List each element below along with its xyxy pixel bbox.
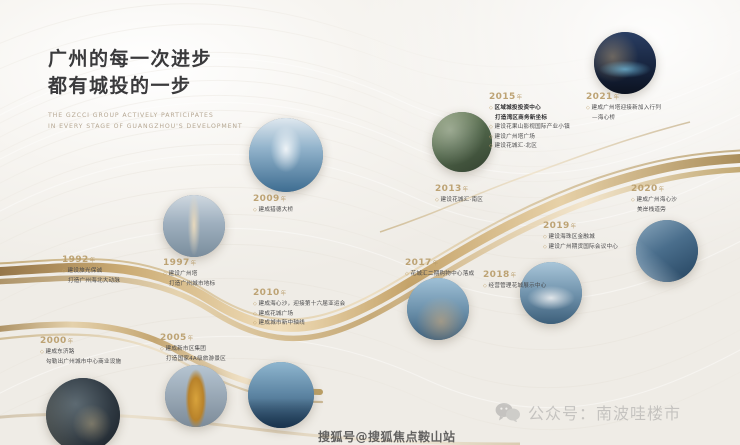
milestone-item: —海心桥 (586, 114, 661, 124)
milestone-label-2015: 2015年 ◇区域城投投资中心 打造湾区商务新坐标 ◇建设花果山影视国际产业小镇… (489, 92, 570, 152)
milestone-label-2013: 2013年 ◇建设花城汇·南区 (435, 184, 483, 206)
milestone-item: ◇建成海心沙，迎接第十六届亚运会 (253, 300, 345, 310)
milestone-year-1992: 1992年 (62, 255, 120, 267)
milestone-item: 打造广州海北大动脉 (62, 277, 120, 287)
milestone-item: 美岸栈道旁 (631, 206, 677, 216)
milestone-label-2021: 2021年 ◇建成广州塔迎接新加入行列 —海心桥 (586, 92, 661, 123)
photo-node-2005-tower[interactable] (165, 365, 227, 427)
milestone-item: ◇建成新市区集团 (160, 345, 226, 355)
milestone-year-2000: 2000年 (40, 336, 121, 348)
sohu-watermark: 搜狐号@搜狐焦点鞍山站 (318, 428, 456, 445)
milestone-item: ◇建设花果山影视国际产业小镇 (489, 123, 570, 133)
milestone-item: ◇建设广州塔广场 (489, 133, 570, 143)
milestone-year-2019: 2019年 (543, 221, 618, 233)
milestone-item: ◇建成广州塔迎接新加入行列 (586, 104, 661, 114)
milestone-item: ◇建设海珠区金融城 (543, 233, 618, 243)
milestone-item: ◇建成城市新中轴线 (253, 319, 345, 329)
milestone-item: ◇花城汇二期购物中心落成 (405, 270, 474, 280)
milestone-year-2013: 2013年 (435, 184, 483, 196)
milestone-item: ◇区域城投投资中心 (489, 104, 570, 114)
milestone-label-1992: 1992年 ◇建设旅光保诚 打造广州海北大动脉 (62, 255, 120, 286)
milestone-item: 勾勒出广州城市中心商业设施 (40, 358, 121, 368)
milestone-year-2005: 2005年 (160, 333, 226, 345)
photo-node-2009-liede-bridge[interactable] (249, 118, 323, 192)
milestone-item: ◇建成广州海心沙 (631, 196, 677, 206)
milestone-label-2019: 2019年 ◇建设海珠区金融城 ◇建设广州期货国际会议中心 (543, 221, 618, 252)
milestone-item: 打造广州城市地标 (163, 280, 215, 290)
milestone-label-2010: 2010年 ◇建成海心沙，迎接第十六届亚运会 ◇建成花城广场 ◇建成城市新中轴线 (253, 288, 345, 329)
wechat-watermark: 公众号：南波哇楼市 (495, 400, 681, 424)
headline-sub-2: IN EVERY STAGE OF GUANGZHOU'S DEVELOPMEN… (48, 121, 243, 132)
milestone-year-2010: 2010年 (253, 288, 345, 300)
milestone-year-2015: 2015年 (489, 92, 570, 104)
milestone-item: ◇建成花城广场 (253, 310, 345, 320)
infographic-canvas: 广州的每一次进步 都有城投的一步 THE GZCCI GROUP ACTIVEL… (0, 0, 740, 445)
milestone-item: 打造湾区商务新坐标 (489, 114, 570, 124)
headline-block: 广州的每一次进步 都有城投的一步 THE GZCCI GROUP ACTIVEL… (48, 46, 243, 132)
milestone-item: ◇建设花城汇·南区 (435, 196, 483, 206)
headline-line-1: 广州的每一次进步 (48, 46, 243, 73)
milestone-year-2021: 2021年 (586, 92, 661, 104)
photo-node-2021-haixin-bridge[interactable] (594, 32, 656, 94)
milestone-label-2020: 2020年 ◇建成广州海心沙 美岸栈道旁 (631, 184, 677, 215)
milestone-item: ◇建设花城汇·北区 (489, 142, 570, 152)
milestone-item: ◇建设广州期货国际会议中心 (543, 243, 618, 253)
wechat-watermark-text: 公众号：南波哇楼市 (528, 400, 681, 424)
milestone-year-2020: 2020年 (631, 184, 677, 196)
milestone-label-1997: 1997年 ◇建设广州塔 打造广州城市地标 (163, 258, 215, 289)
photo-node-2015-aerial[interactable] (432, 112, 492, 172)
milestone-year-1997: 1997年 (163, 258, 215, 270)
milestone-label-2005: 2005年 ◇建成新市区集团 打造国家4A级旅游景区 (160, 333, 226, 364)
milestone-item: ◇建设旅光保诚 (62, 267, 120, 277)
wechat-icon (495, 402, 521, 422)
headline-sub-1: THE GZCCI GROUP ACTIVELY PARTICIPATES (48, 110, 243, 121)
milestone-label-2000: 2000年 ◇建成东济路 勾勒出广州城市中心商业设施 (40, 336, 121, 367)
photo-node-2013-flower-city[interactable] (407, 278, 469, 340)
milestone-item: ◇建成猎德大桥 (253, 206, 293, 216)
milestone-label-2018: 2018年 ◇经营管理花城展示中心 (483, 270, 547, 292)
milestone-item: ◇建设广州塔 (163, 270, 215, 280)
milestone-year-2018: 2018年 (483, 270, 547, 282)
milestone-label-2009: 2009年 ◇建成猎德大桥 (253, 194, 293, 216)
milestone-label-2017: 2017年 ◇花城汇二期购物中心落成 (405, 258, 474, 280)
milestone-item: ◇建成东济路 (40, 348, 121, 358)
photo-node-2010-skyline[interactable] (248, 362, 314, 428)
headline-line-2: 都有城投的一步 (48, 73, 243, 100)
photo-node-1992[interactable] (46, 378, 120, 445)
milestone-year-2009: 2009年 (253, 194, 293, 206)
photo-node-1997-canton-tower[interactable] (163, 195, 225, 257)
photo-node-2020-river[interactable] (636, 220, 698, 282)
milestone-year-2017: 2017年 (405, 258, 474, 270)
milestone-item: 打造国家4A级旅游景区 (160, 355, 226, 365)
milestone-item: ◇经营管理花城展示中心 (483, 282, 547, 292)
